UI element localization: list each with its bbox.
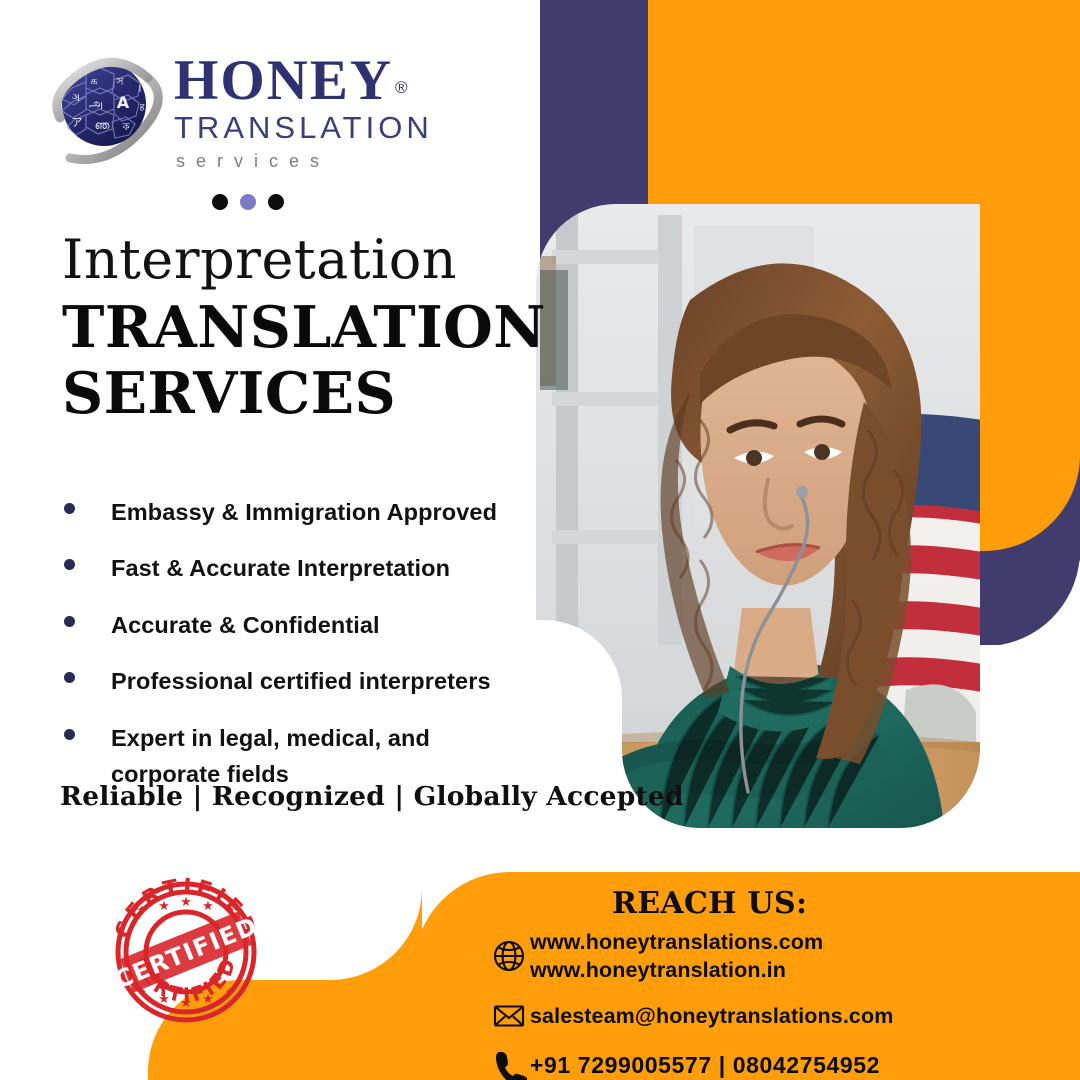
- headline-block: Interpretation TRANSLATION SERVICES: [62, 232, 542, 427]
- svg-text:ഞ: ഞ: [95, 119, 110, 132]
- dot-1: [212, 194, 228, 210]
- feature-text: Accurate & Confidential: [111, 607, 380, 643]
- email-text: salesteam@honeytranslations.com: [530, 1002, 893, 1030]
- contact-rows: www.honeytranslations.com www.honeytrans…: [488, 928, 1068, 1080]
- phone-text: +91 7299005577 | 08042754952: [530, 1050, 880, 1080]
- headline-bold-lines: TRANSLATION SERVICES: [62, 295, 542, 427]
- list-item: Embassy & Immigration Approved: [58, 494, 528, 530]
- brand-logo[interactable]: க স ا ગ அ A ह ア ഞ ক: [52, 48, 472, 210]
- website-line-1: www.honeytranslations.com: [530, 930, 823, 954]
- list-item: Accurate & Confidential: [58, 607, 528, 643]
- contact-row-phone[interactable]: +91 7299005577 | 08042754952: [488, 1047, 1068, 1080]
- dot-3: [268, 194, 284, 210]
- phone-icon: [488, 1047, 530, 1080]
- list-item: Fast & Accurate Interpretation: [58, 550, 528, 586]
- registered-trademark-icon: ®: [395, 78, 408, 97]
- svg-text:க: க: [90, 74, 97, 87]
- bullet-dot-icon: [64, 729, 75, 740]
- poster-canvas: க স ا ગ அ A ह ア ഞ ক: [0, 0, 1080, 1080]
- logo-row: க স ا ગ அ A ह ア ഞ ক: [52, 48, 472, 172]
- contact-row-email[interactable]: salesteam@honeytranslations.com: [488, 998, 1068, 1034]
- logo-tertiary-text: services: [174, 151, 433, 172]
- svg-text:স: স: [115, 75, 124, 88]
- bullet-dot-icon: [64, 559, 75, 570]
- list-item: Professional certified interpreters: [58, 663, 528, 699]
- feature-list: Embassy & Immigration Approved Fast & Ac…: [58, 494, 528, 813]
- tagline: Reliable | Recognized | Globally Accepte…: [60, 781, 684, 812]
- globe-icon: [488, 938, 530, 974]
- bullet-dot-icon: [64, 672, 75, 683]
- headline-bold-line-1: TRANSLATION: [62, 295, 542, 361]
- svg-text:ア: ア: [72, 116, 83, 129]
- feature-text: Embassy & Immigration Approved: [111, 494, 497, 530]
- svg-text:ক: ক: [122, 122, 131, 133]
- contact-row-website[interactable]: www.honeytranslations.com www.honeytrans…: [488, 928, 1068, 985]
- logo-wordmark: HONEY® TRANSLATION services: [174, 48, 433, 172]
- interpreter-photo: [516, 190, 1016, 858]
- svg-text:ગ: ગ: [72, 91, 80, 104]
- svg-text:அ: அ: [89, 97, 103, 112]
- logo-primary-text: HONEY: [174, 54, 393, 108]
- contact-panel: REACH US: www.honeytranslations.com www.…: [416, 872, 1080, 1080]
- logo-secondary-text: TRANSLATION: [174, 110, 433, 146]
- svg-text:ا: ا: [139, 85, 142, 95]
- decorative-dots: [212, 194, 472, 210]
- feature-text: Fast & Accurate Interpretation: [111, 550, 450, 586]
- headline-script-line: Interpretation: [62, 232, 542, 287]
- logo-honey-row: HONEY®: [174, 54, 433, 108]
- dot-2: [240, 194, 256, 210]
- envelope-icon: [488, 998, 530, 1034]
- contact-title: REACH US:: [612, 886, 807, 921]
- svg-text:ह: ह: [140, 103, 145, 113]
- svg-text:A: A: [117, 93, 130, 112]
- website-line-2: www.honeytranslation.in: [530, 958, 786, 982]
- purple-band-clean: [538, 0, 1080, 645]
- headline-bold-line-2: SERVICES: [62, 361, 542, 427]
- feature-text: Professional certified interpreters: [111, 663, 491, 699]
- orange-top-shape: [648, 0, 1080, 551]
- bullet-dot-icon: [64, 616, 75, 627]
- certified-stamp-icon: ✦✦ ✦✦ ★★★ ★★★ CERTIFIED CERTIFIED CERTIF…: [104, 868, 268, 1032]
- bullet-dot-icon: [64, 503, 75, 514]
- website-text: www.honeytranslations.com www.honeytrans…: [530, 928, 823, 985]
- purple-band-shape: [540, 0, 1080, 539]
- globe-languages-icon: க স ا ગ அ A ह ア ഞ ক: [52, 52, 164, 164]
